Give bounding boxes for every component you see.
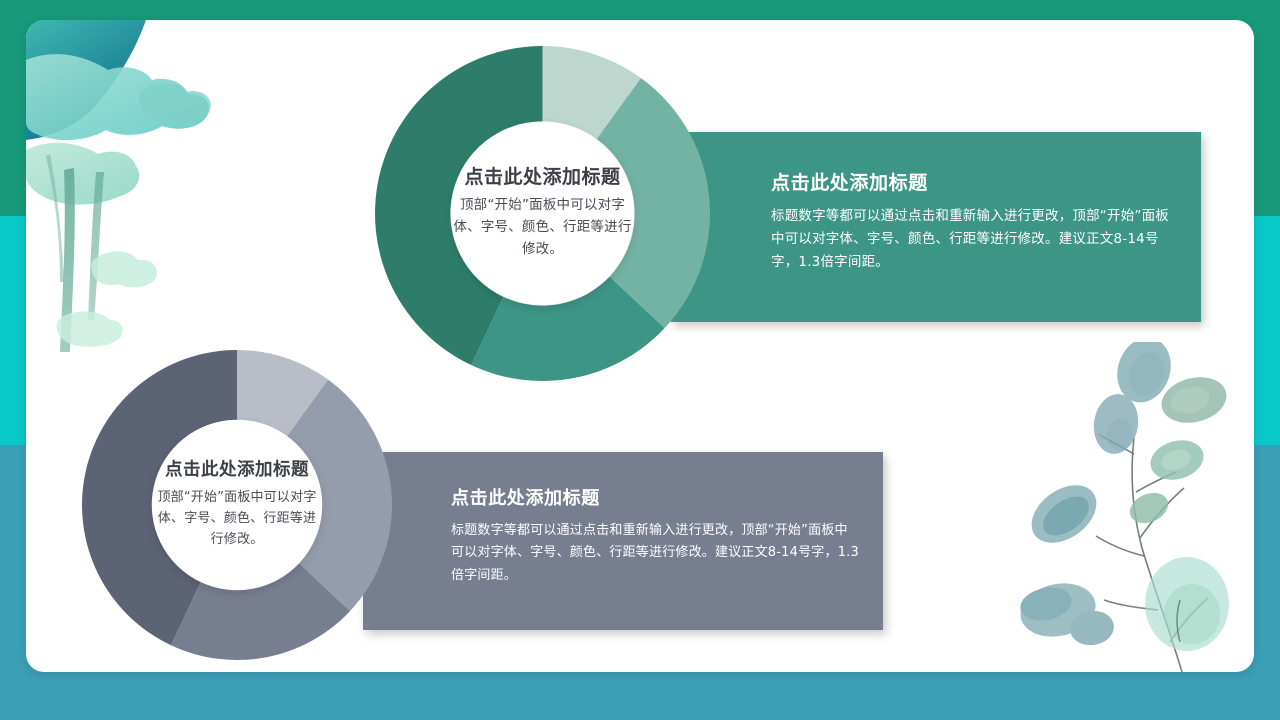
slide-canvas: ppt家园 点击此处添加标题 标题数字等都可以通过点击和重新输入进行更改，顶部“… — [0, 0, 1280, 720]
gray-center-title: 点击此处添加标题 — [165, 460, 309, 482]
gray-donut-chart[interactable]: 点击此处添加标题 顶部“开始”面板中可以对字体、字号、颜色、行距等进行修改。 — [82, 350, 392, 660]
gray-text-panel[interactable]: 点击此处添加标题 标题数字等都可以通过点击和重新输入进行更改，顶部“开始”面板中… — [363, 452, 883, 630]
gray-panel-body: 标题数字等都可以通过点击和重新输入进行更改，顶部“开始”面板中可以对字体、字号、… — [451, 520, 859, 587]
green-panel-title: 点击此处添加标题 — [771, 168, 1175, 195]
gray-center-body: 顶部“开始”面板中可以对字体、字号、颜色、行距等进行修改。 — [152, 487, 322, 550]
green-panel-body: 标题数字等都可以通过点击和重新输入进行更改，顶部“开始”面板中可以对字体、字号、… — [771, 205, 1175, 275]
green-center-title: 点击此处添加标题 — [464, 166, 620, 190]
foliage-topleft-decoration — [26, 20, 256, 360]
green-text-panel[interactable]: 点击此处添加标题 标题数字等都可以通过点击和重新输入进行更改，顶部“开始”面板中… — [671, 132, 1201, 322]
slide-content-card: ppt家园 点击此处添加标题 标题数字等都可以通过点击和重新输入进行更改，顶部“… — [26, 20, 1254, 672]
gray-panel-title: 点击此处添加标题 — [451, 484, 859, 510]
green-donut-center-label: 点击此处添加标题 顶部“开始”面板中可以对字体、字号、颜色、行距等进行修改。 — [451, 122, 634, 305]
green-center-body: 顶部“开始”面板中可以对字体、字号、颜色、行距等进行修改。 — [451, 195, 634, 261]
gray-donut-center-label: 点击此处添加标题 顶部“开始”面板中可以对字体、字号、颜色、行距等进行修改。 — [152, 420, 322, 590]
green-donut-chart[interactable]: 点击此处添加标题 顶部“开始”面板中可以对字体、字号、颜色、行距等进行修改。 — [375, 46, 710, 381]
eucalyptus-branch-decoration — [1004, 342, 1254, 672]
